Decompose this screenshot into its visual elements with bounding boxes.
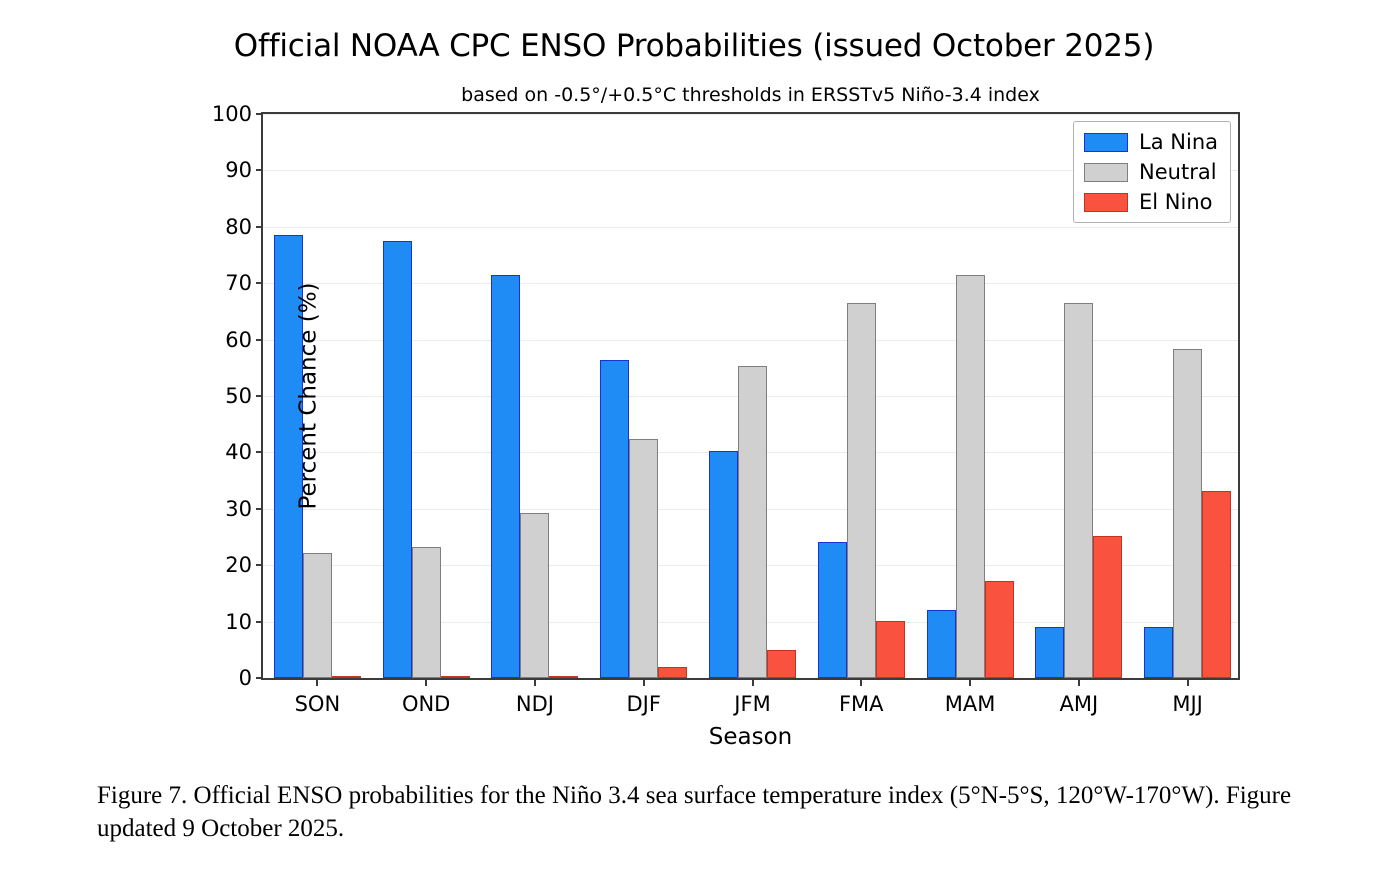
x-tick-mark	[752, 678, 754, 686]
y-tick-label: 40	[225, 440, 252, 464]
bar	[1144, 627, 1173, 678]
x-tick-label: MJJ	[1172, 692, 1203, 716]
bar	[1202, 491, 1231, 678]
bar	[847, 303, 876, 678]
x-tick-mark	[1187, 678, 1189, 686]
y-tick-label: 0	[239, 666, 252, 690]
bar	[441, 676, 470, 678]
legend-item: La Nina	[1084, 130, 1218, 154]
y-tick-label: 60	[225, 328, 252, 352]
bar	[709, 451, 738, 678]
bar	[876, 621, 905, 678]
x-tick-mark	[316, 678, 318, 686]
bar	[549, 676, 578, 678]
bar	[658, 667, 687, 678]
y-tick-label: 20	[225, 553, 252, 577]
bar	[600, 360, 629, 678]
y-tick-label: 30	[225, 497, 252, 521]
y-tick-label: 100	[212, 102, 252, 126]
x-tick-mark	[860, 678, 862, 686]
bar	[927, 610, 956, 678]
x-tick-mark	[534, 678, 536, 686]
legend-label: El Nino	[1139, 190, 1212, 214]
x-tick-mark	[643, 678, 645, 686]
bar	[303, 553, 332, 678]
x-tick-mark	[1078, 678, 1080, 686]
bar	[629, 439, 658, 678]
x-tick-label: SON	[295, 692, 341, 716]
legend-item: El Nino	[1084, 190, 1218, 214]
bar	[1093, 536, 1122, 678]
legend-swatch-icon	[1084, 193, 1128, 212]
x-tick-label: JFM	[734, 692, 770, 716]
x-tick-label: AMJ	[1059, 692, 1098, 716]
y-tick-mark	[256, 169, 263, 171]
y-tick-mark	[256, 677, 263, 679]
y-tick-label: 80	[225, 215, 252, 239]
x-tick-mark	[969, 678, 971, 686]
y-tick-label: 90	[225, 158, 252, 182]
x-tick-label: OND	[402, 692, 450, 716]
bar	[1173, 349, 1202, 678]
legend-label: La Nina	[1139, 130, 1218, 154]
y-tick-mark	[256, 395, 263, 397]
legend-swatch-icon	[1084, 133, 1128, 152]
bar	[818, 542, 847, 678]
bar	[956, 275, 985, 678]
y-tick-mark	[256, 282, 263, 284]
chart-title: Official NOAA CPC ENSO Probabilities (is…	[0, 28, 1388, 64]
x-axis-label: Season	[263, 724, 1238, 750]
y-tick-mark	[256, 564, 263, 566]
enso-probability-figure: Official NOAA CPC ENSO Probabilities (is…	[0, 0, 1388, 760]
gridline	[263, 227, 1238, 228]
y-axis-label: Percent Chance (%)	[296, 282, 322, 509]
bar	[1035, 627, 1064, 678]
x-tick-label: FMA	[839, 692, 884, 716]
gridline	[263, 114, 1238, 115]
bar	[985, 581, 1014, 678]
legend-label: Neutral	[1139, 160, 1217, 184]
bar	[520, 513, 549, 678]
chart-subtitle: based on -0.5°/+0.5°C thresholds in ERSS…	[261, 84, 1240, 106]
y-tick-label: 50	[225, 384, 252, 408]
x-tick-mark	[425, 678, 427, 686]
y-tick-mark	[256, 113, 263, 115]
y-tick-label: 70	[225, 271, 252, 295]
bar	[767, 650, 796, 678]
plot-area: 0102030405060708090100 SONONDNDJDJFJFMFM…	[261, 112, 1240, 680]
x-tick-label: MAM	[945, 692, 996, 716]
y-tick-mark	[256, 508, 263, 510]
y-tick-mark	[256, 621, 263, 623]
figure-caption: Figure 7. Official ENSO probabilities fo…	[97, 779, 1347, 846]
bar	[1064, 303, 1093, 678]
y-tick-mark	[256, 226, 263, 228]
bar	[412, 547, 441, 678]
y-tick-label: 10	[225, 610, 252, 634]
x-tick-label: DJF	[626, 692, 660, 716]
bar	[738, 366, 767, 678]
chart-legend: La NinaNeutralEl Nino	[1073, 121, 1231, 223]
y-tick-mark	[256, 339, 263, 341]
bar	[491, 275, 520, 678]
bar	[332, 676, 361, 678]
x-tick-label: NDJ	[516, 692, 554, 716]
y-tick-mark	[256, 451, 263, 453]
legend-swatch-icon	[1084, 163, 1128, 182]
legend-item: Neutral	[1084, 160, 1218, 184]
bar	[383, 241, 412, 678]
